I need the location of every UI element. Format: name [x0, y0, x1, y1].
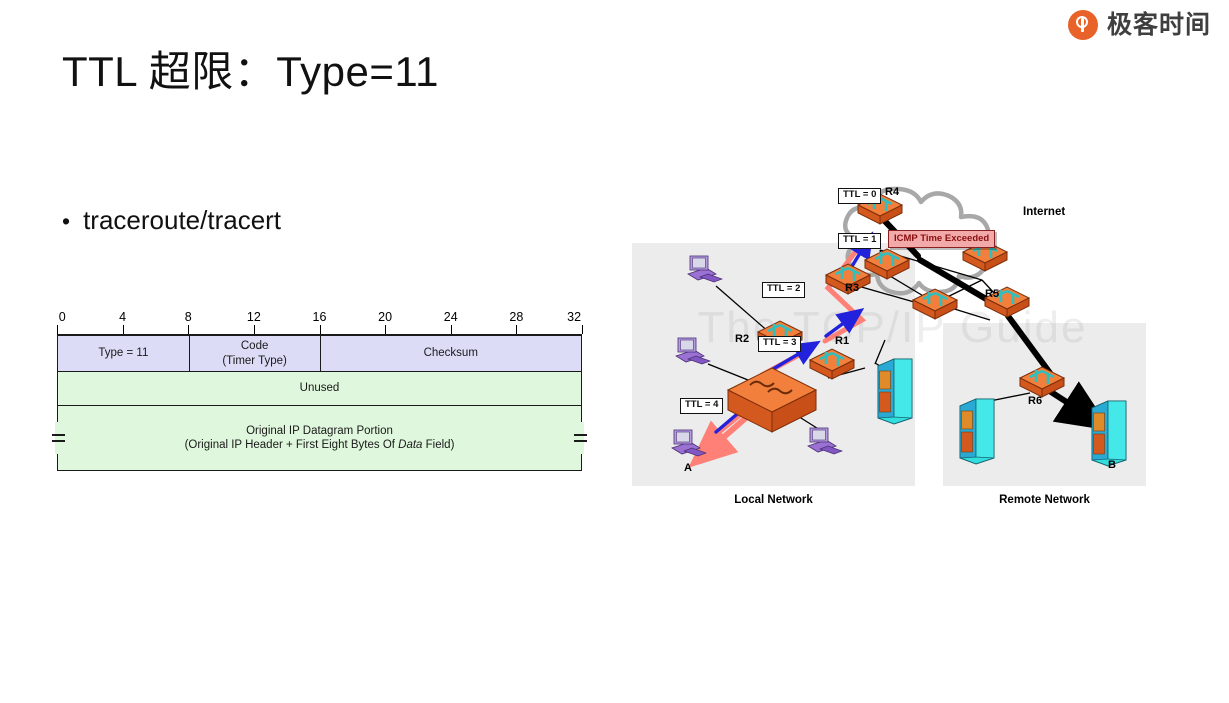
orig-sub-post: Field) — [422, 439, 454, 451]
node-label-b: B — [1108, 459, 1116, 471]
packet-field-original-sublabel: (Original IP Header + First Eight Bytes … — [185, 438, 455, 452]
brand-name: 极客时间 — [1107, 13, 1211, 38]
packet-field-checksum-label: Checksum — [424, 346, 478, 360]
ttl-tag-1: TTL = 1 — [838, 233, 881, 249]
packet-field-original-datagram: Original IP Datagram Portion (Original I… — [58, 406, 581, 470]
node-label-r2: R2 — [735, 333, 749, 345]
packet-field-code-sublabel: (Timer Type) — [222, 354, 287, 368]
ttl-tag-2: TTL = 2 — [762, 282, 805, 298]
ruler-label-24: 24 — [444, 310, 458, 324]
remote-server-left-icon — [960, 399, 994, 464]
node-label-r6: R6 — [1028, 395, 1042, 407]
packet-field-original-label: Original IP Datagram Portion — [246, 424, 393, 438]
link-r6-to-b — [1048, 390, 1096, 421]
icmp-time-exceeded-tag: ICMP Time Exceeded — [888, 230, 995, 248]
ruler-label-28: 28 — [509, 310, 523, 324]
packet-row-unused: Unused — [58, 371, 581, 405]
workstation-middle-icon — [676, 338, 710, 364]
packet-field-unused: Unused — [58, 372, 581, 405]
workstation-top-icon — [688, 256, 722, 282]
router-r1-icon — [810, 349, 854, 379]
ruler-tick — [385, 325, 386, 334]
ruler-tick — [320, 325, 321, 334]
icmp-reply-arrow-to-a — [702, 416, 748, 456]
packet-field-type: Type = 11 — [58, 336, 189, 371]
node-label-r5: R5 — [985, 288, 999, 300]
ttl-tag-4: TTL = 4 — [680, 398, 723, 414]
page-title: TTL 超限：Type=11 — [62, 38, 439, 99]
packet-field-checksum: Checksum — [320, 336, 582, 371]
ragged-edge-right-icon — [574, 430, 587, 446]
node-label-a: A — [684, 462, 692, 474]
ruler-tick — [516, 325, 517, 334]
ruler-tick — [188, 325, 189, 334]
geektime-logo-icon — [1068, 10, 1098, 40]
bullet-marker-icon: • — [62, 210, 70, 233]
bullet-item-traceroute: • traceroute/tracert — [62, 205, 281, 236]
ruler-label-20: 20 — [378, 310, 392, 324]
internet-label: Internet — [1023, 206, 1065, 218]
ttl-tag-3: TTL = 3 — [758, 336, 801, 352]
ruler-label-0: 0 — [59, 310, 66, 324]
remote-network-caption: Remote Network — [943, 494, 1146, 506]
packet-field-type-label: Type = 11 — [98, 346, 148, 360]
ruler-label-16: 16 — [313, 310, 327, 324]
packet-field-table: The TCP/IP Guide Type = 11 Code (Timer T… — [57, 334, 582, 471]
icmp-packet-format-diagram: 0 4 8 12 16 20 24 28 32 The TCP/IP Guide… — [57, 308, 582, 471]
ruler-tick — [582, 325, 583, 334]
packet-row-original-datagram: Original IP Datagram Portion (Original I… — [58, 405, 581, 470]
local-network-caption: Local Network — [632, 494, 915, 506]
orig-sub-em: Data — [398, 439, 422, 451]
ruler-label-12: 12 — [247, 310, 261, 324]
node-label-r3: R3 — [845, 282, 859, 294]
host-b-server-icon — [1092, 401, 1126, 466]
ruler-label-32: 32 — [567, 310, 581, 324]
bit-offset-ruler: 0 4 8 12 16 20 24 28 32 — [57, 308, 582, 334]
workstation-bottom-right-icon — [808, 428, 842, 454]
ruler-label-4: 4 — [119, 310, 126, 324]
ttl-tag-0: TTL = 0 — [838, 188, 881, 204]
orig-sub-pre: (Original IP Header + First Eight Bytes … — [185, 439, 399, 451]
ragged-edge-left-icon — [52, 430, 65, 446]
packet-row-header: Type = 11 Code (Timer Type) Checksum — [58, 336, 581, 371]
traceroute-network-diagram: The TCP/IP Guide — [630, 168, 1155, 513]
host-a-workstation-icon — [672, 430, 706, 456]
node-label-r1: R1 — [835, 335, 849, 347]
packet-field-code: Code (Timer Type) — [189, 336, 320, 371]
node-label-r4: R4 — [885, 186, 899, 198]
packet-field-unused-label: Unused — [300, 381, 340, 395]
network-topology-svg — [630, 168, 1155, 513]
packet-field-code-label: Code — [241, 339, 269, 353]
local-server-icon — [878, 359, 912, 424]
ruler-label-8: 8 — [185, 310, 192, 324]
ruler-tick — [451, 325, 452, 334]
ruler-tick — [57, 325, 58, 334]
brand-logo: 极客时间 — [1068, 10, 1211, 40]
bullet-item-label: traceroute/tracert — [83, 205, 281, 236]
ruler-tick — [254, 325, 255, 334]
ruler-tick — [123, 325, 124, 334]
